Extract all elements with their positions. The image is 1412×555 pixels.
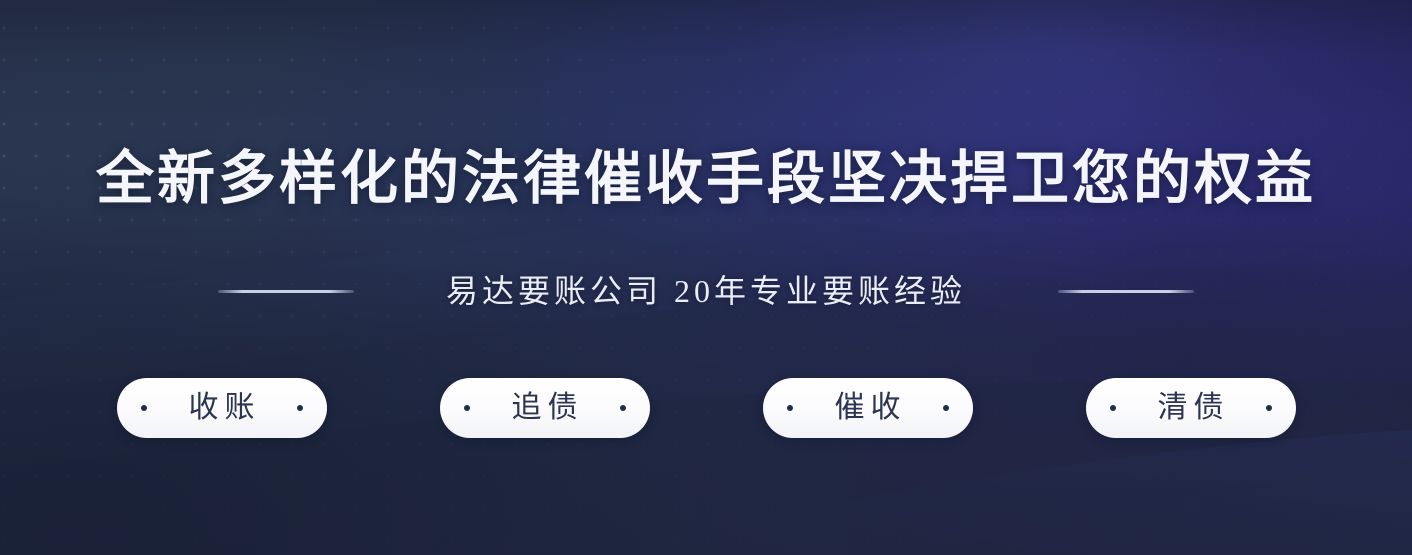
bullet-dot-icon [943, 405, 949, 411]
promo-banner: 全新多样化的法律催收手段坚决捍卫您的权益 易达要账公司 20年专业要账经验 收账… [0, 0, 1412, 555]
bullet-dot-icon [1110, 405, 1116, 411]
bullet-dot-icon [141, 405, 147, 411]
service-pill-qingzhai[interactable]: 清债 [1086, 378, 1296, 438]
bullet-dot-icon [787, 405, 793, 411]
service-pill-row: 收账 追债 催收 清债 [0, 378, 1412, 438]
banner-subtitle: 易达要账公司 20年专业要账经验 [446, 268, 966, 314]
bullet-dot-icon [1266, 405, 1272, 411]
service-pill-label: 清债 [1152, 393, 1230, 423]
bullet-dot-icon [297, 405, 303, 411]
service-pill-zhuizhai[interactable]: 追债 [440, 378, 650, 438]
service-pill-cuishou[interactable]: 催收 [763, 378, 973, 438]
service-pill-shouzhang[interactable]: 收账 [117, 378, 327, 438]
decorative-line-left [218, 290, 354, 293]
banner-subtitle-row: 易达要账公司 20年专业要账经验 [0, 268, 1412, 314]
service-pill-label: 收账 [183, 393, 261, 423]
banner-content: 全新多样化的法律催收手段坚决捍卫您的权益 易达要账公司 20年专业要账经验 收账… [0, 0, 1412, 555]
service-pill-label: 追债 [506, 393, 584, 423]
decorative-line-right [1058, 290, 1194, 293]
service-pill-label: 催收 [829, 393, 907, 423]
banner-headline: 全新多样化的法律催收手段坚决捍卫您的权益 [0, 143, 1412, 215]
bullet-dot-icon [464, 405, 470, 411]
bullet-dot-icon [620, 405, 626, 411]
